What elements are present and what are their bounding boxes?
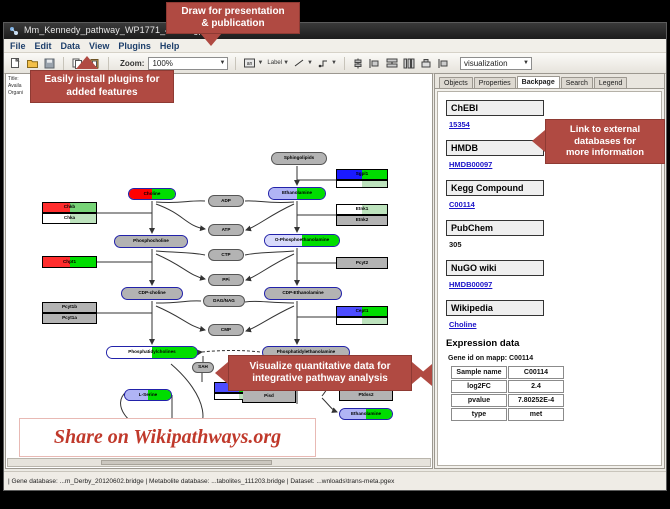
- expression-row: pvalue7.80252E-4: [451, 394, 564, 407]
- node-label: CDP-choline: [138, 291, 165, 296]
- distribute-icon[interactable]: [369, 57, 382, 70]
- node-label: Etnk2: [356, 218, 369, 223]
- callout-draw-arrow: [200, 33, 222, 46]
- metabolite-node-ctp[interactable]: CTP: [208, 249, 244, 261]
- visualization-combobox[interactable]: visualization ▼: [460, 57, 532, 70]
- metabolite-node-phosphocholine[interactable]: Phosphocholine: [114, 235, 188, 248]
- node-label: CDP-Ethanolamine: [282, 291, 323, 296]
- chevron-down-icon[interactable]: ▼: [283, 60, 289, 66]
- callout-link-arrow: [532, 130, 545, 152]
- node-label: Etnk1: [356, 207, 369, 212]
- node-label: Cept1: [356, 309, 369, 314]
- node-label: CMP: [221, 328, 231, 333]
- app-icon: [9, 26, 19, 36]
- metabolite-node-cdp_choline[interactable]: CDP-choline: [121, 287, 183, 300]
- spacing-icon[interactable]: [403, 57, 416, 70]
- datanode-icon[interactable]: an: [243, 57, 256, 70]
- section-value-pubchem: 305: [449, 240, 657, 249]
- expression-value: C00114: [508, 366, 564, 379]
- toolbar-separator-4: [344, 57, 345, 70]
- callout-plugins-line2: added features: [44, 87, 159, 100]
- node-label: ADP: [221, 199, 231, 204]
- metabolite-node-atp[interactable]: ATP: [208, 224, 244, 236]
- callout-plugins-arrow: [76, 56, 98, 69]
- save-icon[interactable]: [43, 57, 56, 70]
- title-bar: Mm_Kennedy_pathway_WP1771_45176.gpml: [4, 23, 666, 39]
- section-heading-nugo-wiki: NuGO wiki: [446, 260, 544, 276]
- gene-node-pcyt1b[interactable]: Pcyt1b: [42, 302, 97, 313]
- section-heading-pubchem: PubChem: [446, 220, 544, 236]
- node-label: CTP: [221, 253, 230, 258]
- svg-text:an: an: [247, 61, 253, 67]
- tab-backpage[interactable]: Backpage: [517, 76, 560, 88]
- metabolite-node-ppi[interactable]: PPi: [208, 274, 244, 286]
- section-heading-kegg-compound: Kegg Compound: [446, 180, 544, 196]
- menu-edit[interactable]: Edit: [35, 41, 52, 51]
- menu-file[interactable]: File: [10, 41, 26, 51]
- expression-data-title: Expression data: [446, 338, 657, 349]
- chevron-down-icon[interactable]: ▼: [257, 60, 263, 66]
- callout-link: Link to external databases for more info…: [545, 119, 665, 164]
- callout-draw: Draw for presentation & publication: [166, 2, 300, 34]
- expression-row: typemet: [451, 408, 564, 421]
- callout-link-line3: more information: [566, 147, 644, 159]
- canvas-hscroll-thumb[interactable]: [101, 460, 272, 465]
- node-label: Chkb: [64, 205, 75, 210]
- metabolite-node-sphingolipids[interactable]: Sphingolipids: [271, 152, 327, 165]
- gene-node-pisd[interactable]: Pisd: [242, 390, 296, 403]
- callout-visualize-line2: integrative pathway analysis: [250, 373, 391, 386]
- zoom-label: Zoom:: [120, 59, 144, 68]
- line-icon[interactable]: [293, 57, 306, 70]
- gene-node-pcyt2[interactable]: Pcyt2: [336, 257, 388, 269]
- callout-draw-line1: Draw for presentation: [181, 6, 284, 19]
- gene-node-chpt1[interactable]: Chpt1: [42, 256, 97, 268]
- section-heading-chebi: ChEBI: [446, 100, 544, 116]
- node-label: Pcyt1a: [62, 316, 77, 321]
- node-label: O-Phosphoethanolamine: [275, 238, 329, 243]
- pathway-canvas[interactable]: Title: Availa Organi: [5, 73, 433, 469]
- chevron-down-icon: ▼: [219, 60, 225, 66]
- menu-help[interactable]: Help: [160, 41, 180, 51]
- expression-table: Sample nameC00114log2FC2.4pvalue7.80252E…: [450, 365, 565, 422]
- metabolite-node-adp[interactable]: ADP: [208, 195, 244, 207]
- node-fill-left: [337, 181, 362, 187]
- gene-node-sgpl1[interactable]: Sgpl1: [336, 169, 388, 180]
- node-label: Chpt1: [63, 260, 76, 265]
- metabolite-node-sah[interactable]: SAH: [192, 362, 214, 373]
- node-label: Sphingolipids: [284, 156, 314, 161]
- side-panel-tabs[interactable]: ObjectsPropertiesBackpageSearchLegend: [435, 74, 664, 89]
- section-value-wikipedia[interactable]: Choline: [449, 320, 657, 329]
- node-label: Ethanolamine: [282, 191, 312, 196]
- node-label: Pcyt2: [356, 261, 368, 266]
- node-label: Pisd: [264, 394, 274, 399]
- line-tool[interactable]: ▼: [293, 57, 313, 70]
- metabolite-node-ethanolamine_bot[interactable]: Ethanolamine: [339, 408, 393, 420]
- chevron-down-icon: ▼: [523, 60, 529, 66]
- stack-icon[interactable]: [386, 57, 399, 70]
- node-label: Ethanolamine: [351, 412, 381, 417]
- gene-node-cept1b[interactable]: [336, 317, 388, 325]
- callout-share: Share on Wikipathways.org: [19, 418, 316, 457]
- callout-link-line1: Link to external: [566, 124, 644, 136]
- tab-objects[interactable]: Objects: [439, 77, 473, 88]
- chevron-down-icon[interactable]: ▼: [331, 60, 337, 66]
- node-label: SAH: [198, 365, 208, 370]
- tab-search[interactable]: Search: [561, 77, 593, 88]
- datanode-tool[interactable]: an ▼: [243, 57, 263, 70]
- menu-data[interactable]: Data: [61, 41, 81, 51]
- callout-visualize-arrow-panel: [419, 364, 432, 386]
- toolbar-separator-3: [235, 57, 236, 70]
- metabolite-node-ophosphoethanolamine[interactable]: O-Phosphoethanolamine: [264, 234, 340, 247]
- node-label: Sgpl1: [356, 172, 369, 177]
- node-label: PPi: [222, 278, 229, 283]
- metabolite-node-ethanolamine_top[interactable]: Ethanolamine: [268, 187, 326, 200]
- tab-properties[interactable]: Properties: [474, 77, 516, 88]
- metabolite-node-phosphatidylcholines[interactable]: Phosphatidylcholines: [106, 346, 198, 359]
- tab-legend[interactable]: Legend: [594, 77, 627, 88]
- menu-bar[interactable]: File Edit Data View Plugins Help: [4, 39, 666, 53]
- new-icon[interactable]: [9, 57, 22, 70]
- align-icon[interactable]: [352, 57, 365, 70]
- expression-value: met: [508, 408, 564, 421]
- menu-view[interactable]: View: [89, 41, 109, 51]
- callout-plugins: Easily install plugins for added feature…: [30, 70, 174, 103]
- section-heading-hmdb: HMDB: [446, 140, 544, 156]
- expression-value: 2.4: [508, 380, 564, 393]
- node-label: ATP: [222, 228, 231, 233]
- gene-node-chka[interactable]: Chka: [42, 213, 97, 224]
- callout-link-line2: databases for: [566, 136, 644, 148]
- node-label: Phosphocholine: [133, 239, 169, 244]
- open-icon[interactable]: [26, 57, 39, 70]
- expression-key: type: [451, 408, 507, 421]
- status-bar: | Gene database: ...m_Derby_20120602.bri…: [4, 471, 666, 490]
- section-value-kegg-compound[interactable]: C00114: [449, 200, 657, 209]
- node-fill-right: [362, 318, 387, 324]
- toolbar-separator-2: [108, 57, 109, 70]
- interaction-icon[interactable]: [317, 57, 330, 70]
- node-fill-left: [215, 394, 239, 399]
- toolbar-separator-1: [63, 57, 64, 70]
- gene-node-chkb[interactable]: Chkb: [42, 202, 97, 213]
- menu-plugins[interactable]: Plugins: [118, 41, 151, 51]
- callout-visualize-arrow-left: [215, 362, 228, 384]
- status-text: | Gene database: ...m_Derby_20120602.bri…: [8, 478, 394, 485]
- node-fill-right: [362, 181, 387, 187]
- expression-key: Sample name: [451, 366, 507, 379]
- callout-draw-line2: & publication: [181, 18, 284, 31]
- label-tool-text: Label: [267, 60, 282, 66]
- gene-node-cept1[interactable]: Cept1: [336, 306, 388, 317]
- zoom-value: 100%: [152, 59, 172, 68]
- order-icon[interactable]: [437, 57, 450, 70]
- expression-row: log2FC2.4: [451, 380, 564, 393]
- callout-visualize-line1: Visualize quantitative data for: [250, 361, 391, 374]
- callout-share-text: Share on Wikipathways.org: [54, 426, 281, 449]
- metabolite-node-cmp[interactable]: CMP: [208, 324, 244, 336]
- gene-id-label: Gene id on mapp: C00114: [448, 355, 657, 362]
- node-label: DAG/NAG: [213, 299, 235, 304]
- expression-row: Sample nameC00114: [451, 366, 564, 379]
- visualization-value: visualization: [464, 59, 508, 68]
- canvas-hscrollbar[interactable]: [7, 458, 431, 467]
- expression-value: 7.80252E-4: [508, 394, 564, 407]
- node-label: Phosphatidylcholines: [128, 350, 175, 355]
- node-label: Ptdss2: [358, 393, 373, 398]
- section-value-nugo-wiki[interactable]: HMDB00097: [449, 280, 657, 289]
- zoom-combobox[interactable]: 100% ▼: [148, 57, 228, 70]
- chevron-down-icon[interactable]: ▼: [307, 60, 313, 66]
- expression-key: log2FC: [451, 380, 507, 393]
- metabolite-node-cdp_ethanolamine[interactable]: CDP-Ethanolamine: [264, 287, 342, 300]
- gene-node-pcyt1a[interactable]: Pcyt1a: [42, 313, 97, 324]
- metabolite-node-choline_top[interactable]: Choline: [128, 188, 176, 200]
- node-label: Chka: [64, 216, 75, 221]
- node-label: Choline: [144, 192, 161, 197]
- gene-node-etnk2[interactable]: Etnk2: [336, 215, 388, 226]
- gene-node-sgpl1b[interactable]: [336, 180, 388, 188]
- expression-key: pvalue: [451, 394, 507, 407]
- node-label: L-Serine: [139, 393, 157, 398]
- metabolite-node-dagnag[interactable]: DAG/NAG: [203, 295, 245, 307]
- metabolite-node-lserine_left[interactable]: L-Serine: [124, 389, 172, 401]
- gene-node-etnk1[interactable]: Etnk1: [336, 204, 388, 215]
- callout-plugins-line1: Easily install plugins for: [44, 74, 159, 87]
- node-label: Pcyt1b: [62, 305, 77, 310]
- screenshot-root: Mm_Kennedy_pathway_WP1771_45176.gpml Fil…: [0, 0, 670, 509]
- interaction-tool[interactable]: ▼: [317, 57, 337, 70]
- node-fill-left: [337, 318, 362, 324]
- label-tool[interactable]: Label ▼: [267, 60, 289, 66]
- group-icon[interactable]: [420, 57, 433, 70]
- section-heading-wikipedia: Wikipedia: [446, 300, 544, 316]
- callout-visualize: Visualize quantitative data for integrat…: [228, 355, 412, 391]
